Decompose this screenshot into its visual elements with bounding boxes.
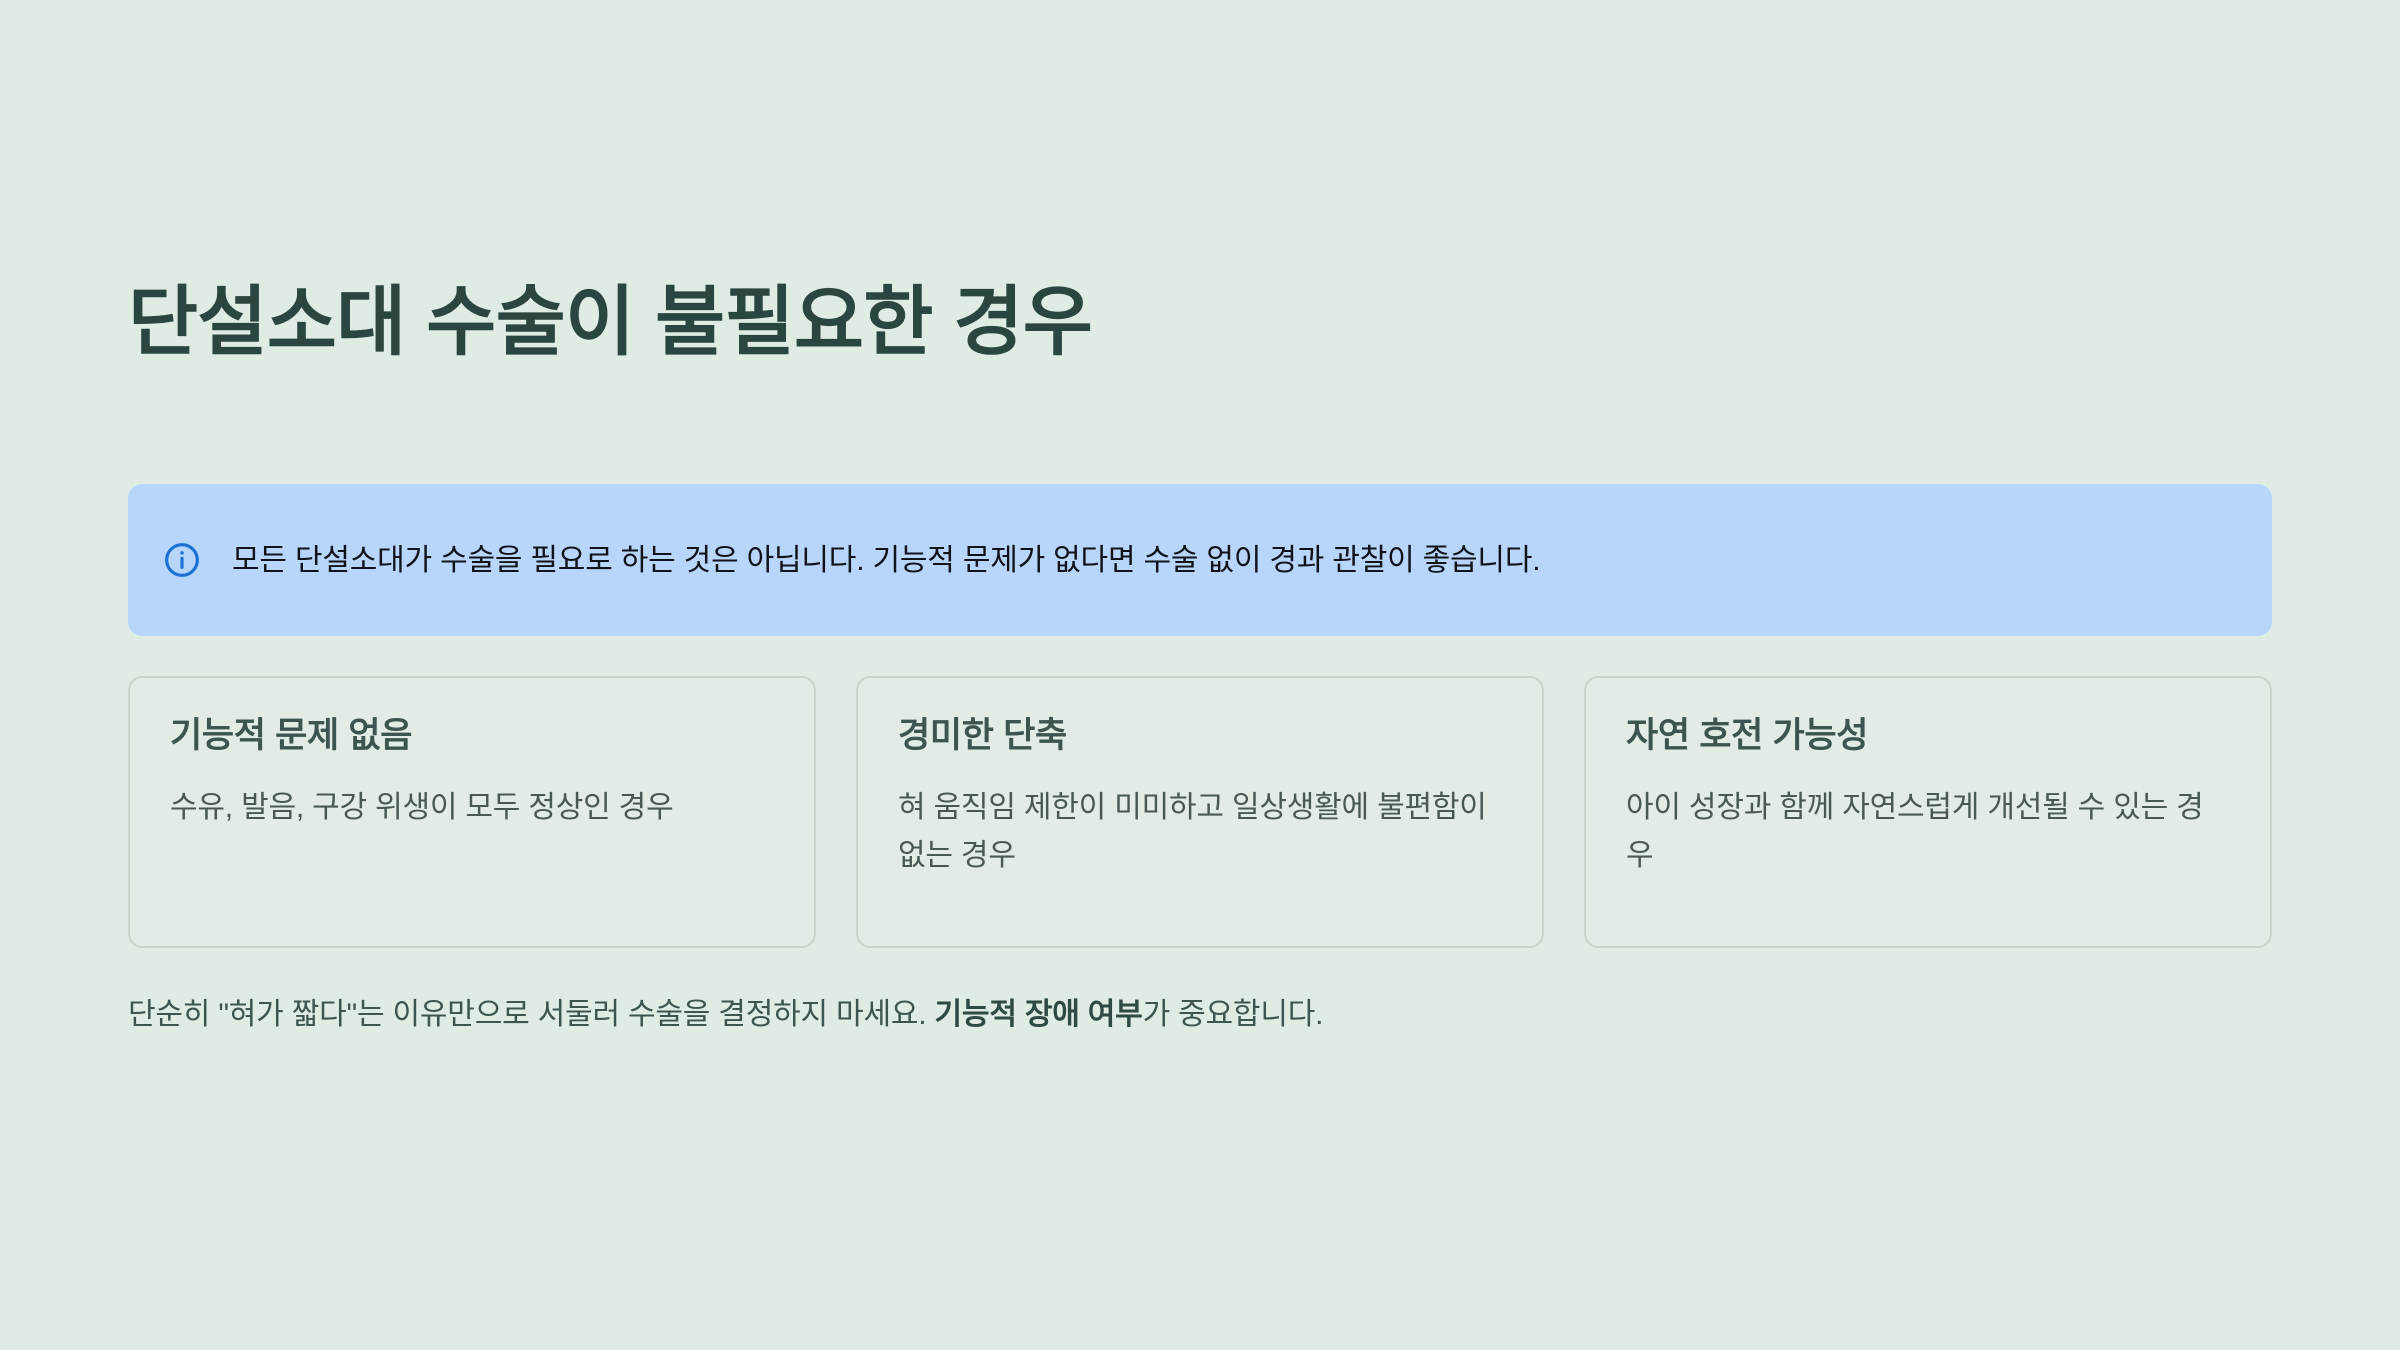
- card-title: 기능적 문제 없음: [170, 714, 774, 758]
- card-description: 아이 성장과 함께 자연스럽게 개선될 수 있는 경우: [1626, 784, 2230, 881]
- footnote-lead: 단순히 "혀가 짧다"는 이유만으로 서둘러 수술을 결정하지 마세요.: [128, 998, 935, 1031]
- card-natural-improvement: 자연 호전 가능성 아이 성장과 함께 자연스럽게 개선될 수 있는 경우: [1584, 676, 2272, 948]
- info-banner: 모든 단설소대가 수술을 필요로 하는 것은 아닙니다. 기능적 문제가 없다면…: [128, 484, 2272, 636]
- card-description: 수유, 발음, 구강 위생이 모두 정상인 경우: [170, 784, 774, 833]
- card-grid: 기능적 문제 없음 수유, 발음, 구강 위생이 모두 정상인 경우 경미한 단…: [128, 676, 2272, 948]
- footnote: 단순히 "혀가 짧다"는 이유만으로 서둘러 수술을 결정하지 마세요. 기능적…: [128, 992, 1323, 1037]
- footnote-emphasis: 기능적 장애 여부: [935, 998, 1143, 1031]
- footnote-tail: 가 중요합니다.: [1143, 998, 1324, 1031]
- card-functional-normal: 기능적 문제 없음 수유, 발음, 구강 위생이 모두 정상인 경우: [128, 676, 816, 948]
- card-title: 자연 호전 가능성: [1626, 714, 2230, 758]
- card-title: 경미한 단축: [898, 714, 1502, 758]
- page-title: 단설소대 수술이 불필요한 경우: [128, 278, 1092, 368]
- page-root: 단설소대 수술이 불필요한 경우 모든 단설소대가 수술을 필요로 하는 것은 …: [0, 0, 2400, 1350]
- card-description: 혀 움직임 제한이 미미하고 일상생활에 불편함이 없는 경우: [898, 784, 1502, 881]
- card-mild-shortening: 경미한 단축 혀 움직임 제한이 미미하고 일상생활에 불편함이 없는 경우: [856, 676, 1544, 948]
- info-banner-text: 모든 단설소대가 수술을 필요로 하는 것은 아닙니다. 기능적 문제가 없다면…: [232, 538, 1540, 583]
- info-circle-icon: [162, 540, 202, 580]
